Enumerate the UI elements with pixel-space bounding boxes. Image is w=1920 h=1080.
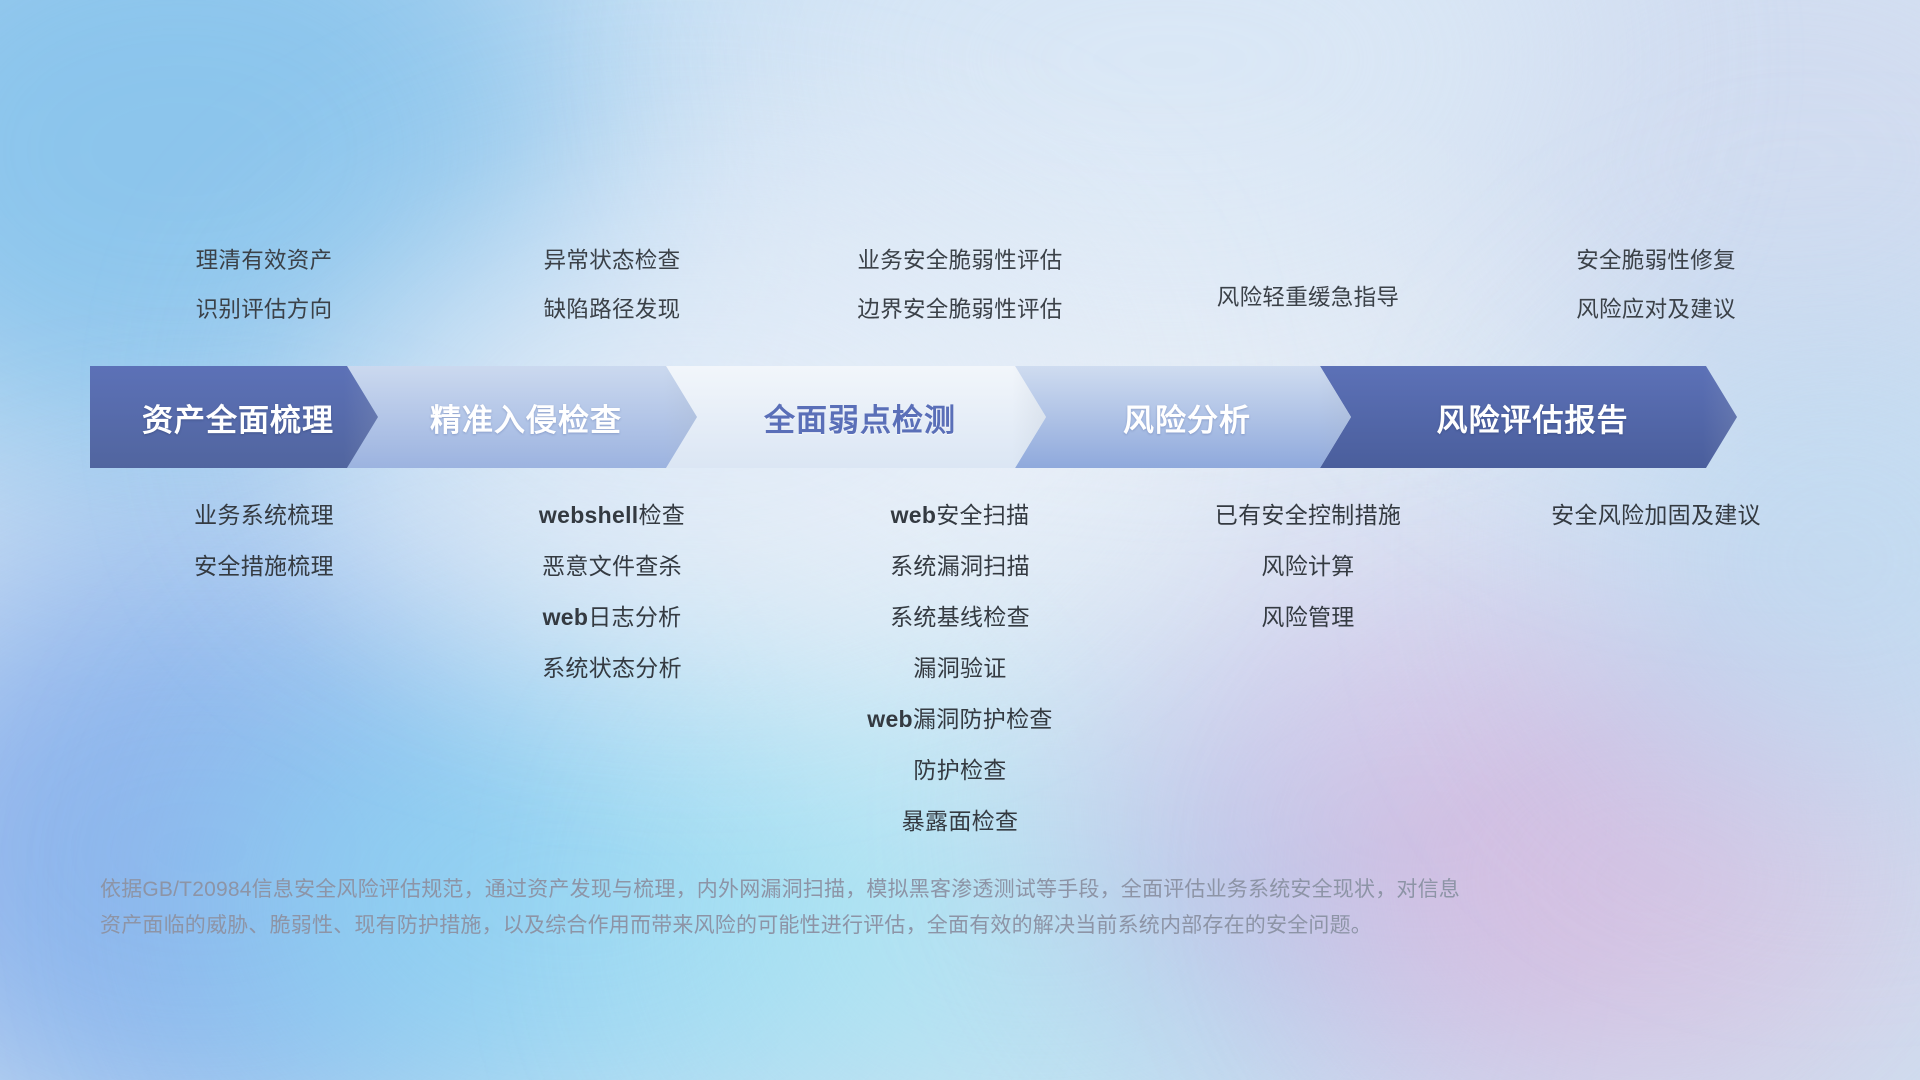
bottom-item: 已有安全控制措施 [1215,490,1401,541]
stage-title: 精准入侵检查 [347,395,697,440]
bottom-item: 系统基线检查 [890,592,1030,643]
bottom-column-risk-report: 安全风险加固及建议 [1482,490,1830,541]
top-item: 缺陷路径发现 [544,285,681,334]
stage-chevron-intrusion-check[interactable]: 精准入侵检查 [347,366,697,468]
bottom-item: 风险管理 [1261,592,1354,643]
bottom-item: 风险计算 [1261,541,1354,592]
top-items-row: 理清有效资产 识别评估方向 异常状态检查 缺陷路径发现 业务安全脆弱性评估 边界… [90,236,1830,334]
top-column-weakness-detection: 业务安全脆弱性评估 边界安全脆弱性评估 [786,236,1134,334]
bottom-item: 安全风险加固及建议 [1551,490,1761,541]
bottom-item: 恶意文件查杀 [542,541,682,592]
stage-title: 风险分析 [1015,395,1351,440]
slide-canvas: 理清有效资产 识别评估方向 异常状态检查 缺陷路径发现 业务安全脆弱性评估 边界… [0,0,1920,1080]
bottom-item: 系统状态分析 [542,643,682,694]
diagram-content: 理清有效资产 识别评估方向 异常状态检查 缺陷路径发现 业务安全脆弱性评估 边界… [0,0,1920,1080]
bottom-item: 系统漏洞扫描 [890,541,1030,592]
bottom-item: 暴露面检查 [902,796,1019,847]
bottom-item: 漏洞验证 [913,643,1006,694]
top-column-risk-analysis: 风险轻重缓急指导 [1134,236,1482,334]
stage-title: 风险评估报告 [1320,395,1737,440]
process-arrow-band: 资产全面梳理 精准入侵检查 全面弱点检测 风险分析 风险评估报告 [90,366,1830,468]
top-item: 异常状态检查 [544,236,681,285]
bottom-column-intrusion-check: webshell检查 恶意文件查杀 web日志分析 系统状态分析 [438,490,786,694]
bottom-item: 安全措施梳理 [194,541,334,592]
stage-title: 全面弱点检测 [666,395,1046,440]
footnote-caption: 依据GB/T20984信息安全风险评估规范，通过资产发现与梳理，内外网漏洞扫描，… [100,872,1660,944]
top-item: 识别评估方向 [196,285,333,334]
top-column-asset-inventory: 理清有效资产 识别评估方向 [90,236,438,334]
bottom-item: 业务系统梳理 [194,490,334,541]
bottom-column-risk-analysis: 已有安全控制措施 风险计算 风险管理 [1134,490,1482,643]
bottom-column-asset-inventory: 业务系统梳理 安全措施梳理 [90,490,438,592]
stage-chevron-risk-analysis[interactable]: 风险分析 [1015,366,1351,468]
top-item: 风险应对及建议 [1576,285,1736,334]
top-item: 理清有效资产 [196,236,333,285]
top-item: 业务安全脆弱性评估 [857,236,1062,285]
stage-chevron-asset-inventory[interactable]: 资产全面梳理 [90,366,378,468]
bottom-item: webshell检查 [539,490,685,541]
top-item: 安全脆弱性修复 [1576,236,1736,285]
top-column-risk-report: 安全脆弱性修复 风险应对及建议 [1482,236,1830,334]
stage-chevron-weakness-detection[interactable]: 全面弱点检测 [666,366,1046,468]
stage-chevron-risk-report[interactable]: 风险评估报告 [1320,366,1737,468]
caption-line: 依据GB/T20984信息安全风险评估规范，通过资产发现与梳理，内外网漏洞扫描，… [100,872,1660,908]
bottom-items-row: 业务系统梳理 安全措施梳理 webshell检查 恶意文件查杀 web日志分析 … [90,490,1830,847]
bottom-item: web安全扫描 [891,490,1030,541]
stage-title: 资产全面梳理 [90,395,378,440]
top-item: 风险轻重缓急指导 [1217,273,1399,322]
caption-line: 资产面临的威胁、脆弱性、现有防护措施，以及综合作用而带来风险的可能性进行评估，全… [100,908,1660,944]
bottom-item: web漏洞防护检查 [867,694,1052,745]
bottom-item: 防护检查 [913,745,1006,796]
bottom-item: web日志分析 [543,592,682,643]
top-column-intrusion-check: 异常状态检查 缺陷路径发现 [438,236,786,334]
top-item: 边界安全脆弱性评估 [857,285,1062,334]
bottom-column-weakness-detection: web安全扫描 系统漏洞扫描 系统基线检查 漏洞验证 web漏洞防护检查 防护检… [786,490,1134,847]
